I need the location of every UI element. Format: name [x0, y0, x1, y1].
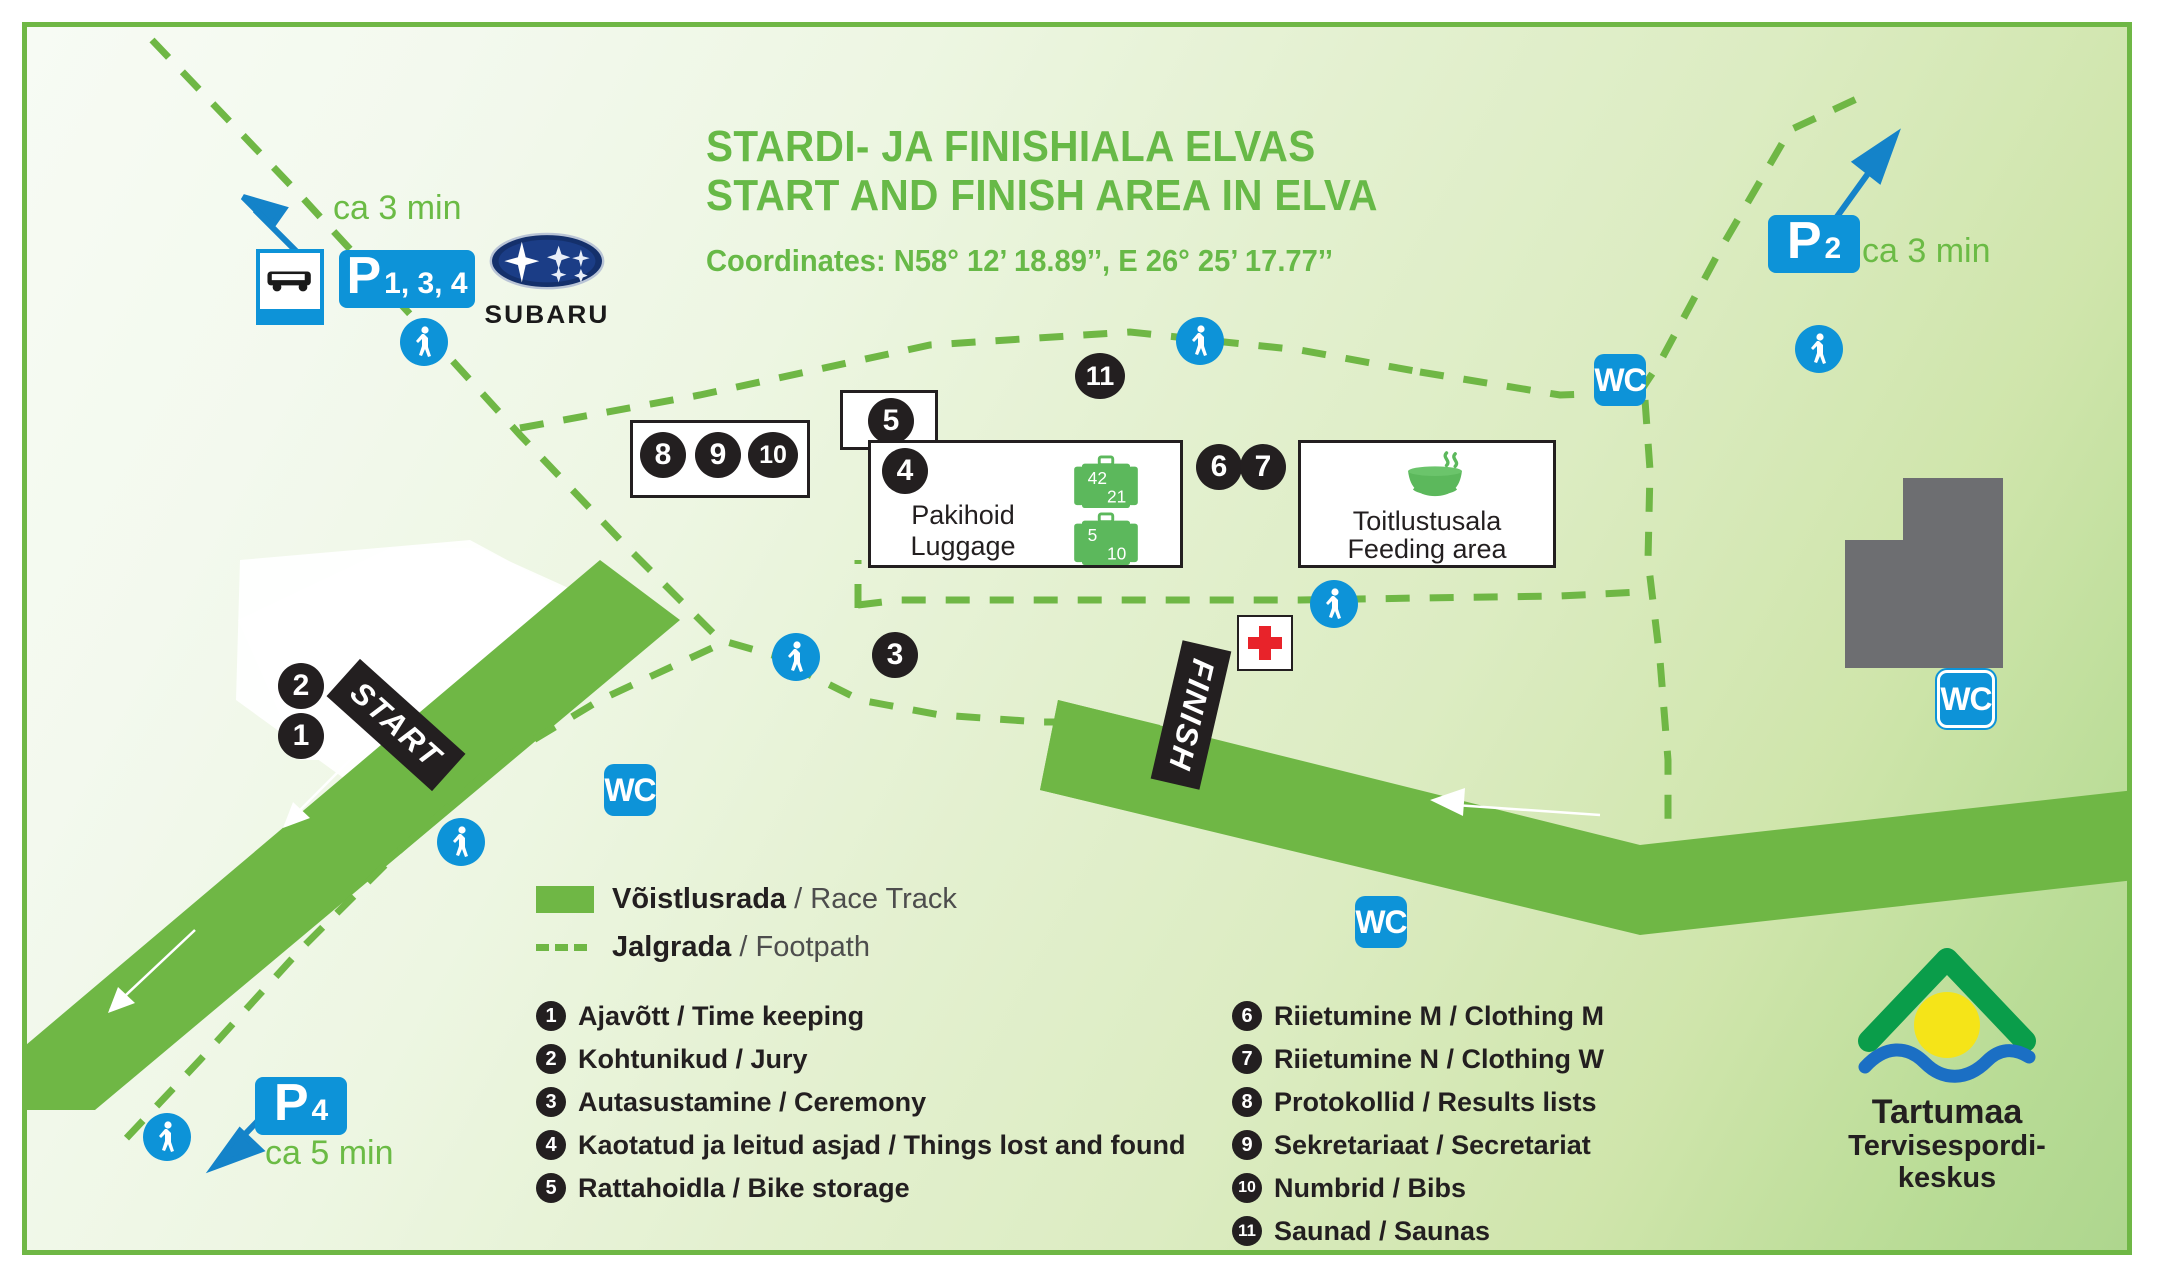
map-marker-7: 7: [1240, 444, 1286, 490]
svg-text:10: 10: [1107, 543, 1126, 563]
map-marker-11: 11: [1075, 353, 1125, 399]
svg-text:5: 5: [1088, 525, 1098, 545]
legend-marker-4: 4: [536, 1130, 566, 1160]
parking-numbers: 1, 3, 4: [384, 267, 467, 301]
legend-marker-1: 1: [536, 1001, 566, 1031]
pedestrian-icon-center: [772, 633, 820, 681]
tartumaa-sub2: keskus: [1812, 1163, 2082, 1195]
legend-key-label-en-text: Race Track: [810, 883, 957, 915]
legend-column-left: 1 Ajavõtt / Time keeping 2 Kohtunikud / …: [536, 998, 1256, 1213]
legend-marker-11: 11: [1232, 1216, 1262, 1246]
legend-item-label: Protokollid / Results lists: [1274, 1087, 1597, 1118]
map-poster: STARDI- JA FINISHIALA ELVAS START AND FI…: [0, 0, 2158, 1277]
legend-item: 11 Saunad / Saunas: [1232, 1213, 1952, 1249]
legend-marker-8: 8: [1232, 1087, 1262, 1117]
legend-item-label: Rattahoidla / Bike storage: [578, 1173, 910, 1204]
legend-key-footpath: Jalgrada / Footpath: [536, 930, 957, 964]
walk-time-p134: ca 3 min: [333, 189, 462, 228]
walking-person-glyph: [1321, 587, 1347, 621]
legend-key-label-en: / Race Track: [794, 883, 957, 915]
svg-text:42: 42: [1088, 468, 1107, 488]
legend-marker-9: 9: [1232, 1130, 1262, 1160]
legend-key-label: Jalgrada / Footpath: [612, 931, 870, 964]
footpath-swatch: [536, 934, 594, 961]
legend-item-label: Autasustamine / Ceremony: [578, 1087, 926, 1118]
walking-person-glyph: [1806, 332, 1832, 366]
parking-letter: P: [274, 1077, 309, 1129]
steaming-bowl-glyph: [1398, 450, 1472, 500]
map-marker-4: 4: [882, 448, 928, 494]
legend-marker-7: 7: [1232, 1044, 1262, 1074]
map-marker-3: 3: [872, 632, 918, 678]
pedestrian-icon-feeding: [1310, 580, 1358, 628]
feeding-label-en: Feeding area: [1298, 534, 1556, 564]
pedestrian-icon-center-north: [1176, 317, 1224, 365]
wc-sign-start: WC: [604, 764, 656, 816]
walking-person-glyph: [411, 325, 437, 359]
legend-item-label: Saunad / Saunas: [1274, 1216, 1490, 1247]
legend-key-label: Võistlusrada / Race Track: [612, 883, 957, 916]
legend-item-label: Ajavõtt / Time keeping: [578, 1001, 864, 1032]
legend-key-label-et: Võistlusrada: [612, 883, 786, 915]
legend-key-label-en-text: Footpath: [755, 931, 869, 963]
map-marker-8: 8: [640, 432, 686, 478]
pedestrian-icon-ne: [1795, 325, 1843, 373]
wc-sign-northeast: WC: [1594, 354, 1646, 406]
legend-item-label: Numbrid / Bibs: [1274, 1173, 1466, 1204]
legend-item-label: Kaotatud ja leitud asjad / Things lost a…: [578, 1130, 1186, 1161]
parking-sign-p4[interactable]: P 4: [255, 1077, 347, 1135]
parking-numbers: 4: [312, 1094, 329, 1128]
legend-marker-6: 6: [1232, 1001, 1262, 1031]
legend-key-race-track: Võistlusrada / Race Track: [536, 882, 957, 916]
legend-item: 3 Autasustamine / Ceremony: [536, 1084, 1256, 1120]
legend-marker-5: 5: [536, 1173, 566, 1203]
feeding-label-et: Toitlustusala: [1298, 506, 1556, 536]
pedestrian-icon-sw: [143, 1113, 191, 1161]
svg-text:21: 21: [1107, 486, 1126, 506]
map-marker-5: 5: [868, 398, 914, 444]
map-marker-6: 6: [1196, 444, 1242, 490]
suitcase-glyph: 42 21: [1072, 455, 1140, 509]
parking-letter: P: [1787, 215, 1822, 267]
legend-item: 1 Ajavõtt / Time keeping: [536, 998, 1256, 1034]
legend-item-label: Sekretariaat / Secretariat: [1274, 1130, 1591, 1161]
subaru-logo: SUBARU: [487, 232, 607, 330]
subaru-star-icon: [488, 232, 606, 294]
suitcase-glyph: 5 10: [1072, 512, 1140, 566]
bus-glyph: [264, 268, 316, 294]
parking-sign-p2[interactable]: P 2: [1768, 215, 1860, 273]
legend-item-label: Kohtunikud / Jury: [578, 1044, 808, 1075]
legend-key-label-et: Jalgrada: [612, 931, 731, 963]
legend-marker-3: 3: [536, 1087, 566, 1117]
walking-person-glyph: [1187, 324, 1213, 358]
title-english: START AND FINISH AREA IN ELVA: [706, 171, 1534, 220]
wc-sign-east: WC: [1937, 670, 1995, 728]
walk-time-p4: ca 5 min: [265, 1134, 394, 1173]
tartumaa-logo: Tartumaa Tervisespordi- keskus: [1812, 945, 2082, 1195]
tartumaa-name: Tartumaa: [1812, 1094, 2082, 1131]
luggage-label-en: Luggage: [868, 531, 1058, 561]
pedestrian-icon-start: [437, 818, 485, 866]
legend-item: 4 Kaotatud ja leitud asjad / Things lost…: [536, 1127, 1256, 1163]
luggage-label-et: Pakihoid: [868, 500, 1058, 530]
map-marker-10: 10: [748, 432, 798, 478]
legend-item: 2 Kohtunikud / Jury: [536, 1041, 1256, 1077]
wc-sign-center-south: WC: [1355, 896, 1407, 948]
title-block: STARDI- JA FINISHIALA ELVAS START AND FI…: [706, 122, 1606, 279]
legend-item-label: Riietumine M / Clothing M: [1274, 1001, 1604, 1032]
soup-bowl-icon: [1398, 450, 1472, 505]
subaru-wordmark: SUBARU: [484, 301, 610, 330]
walking-person-glyph: [783, 640, 809, 674]
suitcase-icon-top: 42 21: [1072, 455, 1140, 514]
map-marker-9: 9: [695, 432, 741, 478]
parking-letter: P: [346, 250, 381, 302]
race-track-swatch: [536, 886, 594, 913]
suitcase-icon-bottom: 5 10: [1072, 512, 1140, 571]
legend-marker-10: 10: [1232, 1173, 1262, 1203]
pedestrian-icon-nw: [400, 318, 448, 366]
walking-person-glyph: [448, 825, 474, 859]
legend-marker-2: 2: [536, 1044, 566, 1074]
legend-item: 5 Rattahoidla / Bike storage: [536, 1170, 1256, 1206]
legend-key-label-en: / Footpath: [739, 931, 870, 963]
map-marker-2: 2: [278, 663, 324, 709]
first-aid-sign: [1237, 615, 1293, 671]
bus-stop-icon: [256, 249, 324, 325]
red-cross-icon: [1239, 617, 1291, 669]
tartumaa-sub1: Tervisespordi-: [1812, 1131, 2082, 1163]
title-estonian: STARDI- JA FINISHIALA ELVAS: [706, 122, 1534, 171]
parking-sign-p134[interactable]: P 1, 3, 4: [339, 250, 475, 308]
map-marker-1: 1: [278, 713, 324, 759]
walking-person-glyph: [154, 1120, 180, 1154]
coordinates-text: Coordinates: N58° 12’ 18.89’’, E 26° 25’…: [706, 243, 1552, 279]
tartumaa-emblem-icon: [1847, 945, 2047, 1085]
walk-time-p2: ca 3 min: [1862, 232, 1991, 271]
legend-item-label: Riietumine N / Clothing W: [1274, 1044, 1604, 1075]
legend-key: Võistlusrada / Race Track Jalgrada / Foo…: [536, 882, 957, 978]
parking-numbers: 2: [1825, 232, 1842, 266]
